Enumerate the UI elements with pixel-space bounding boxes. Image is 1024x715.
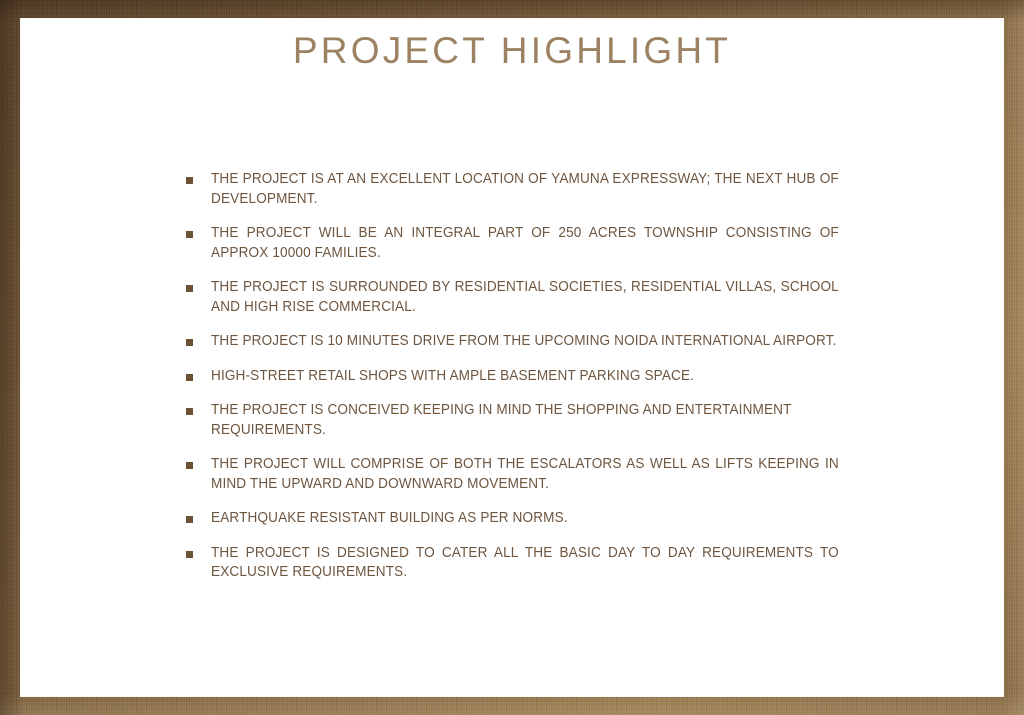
square-bullet-icon: [186, 408, 193, 415]
square-bullet-icon: [186, 231, 193, 238]
list-item-label: THE PROJECT IS CONCEIVED KEEPING IN MIND…: [211, 401, 839, 440]
highlight-list: THE PROJECT IS AT AN EXCELLENT LOCATION …: [186, 170, 839, 583]
square-bullet-icon: [186, 551, 193, 558]
list-item-label: HIGH-STREET RETAIL SHOPS WITH AMPLE BASE…: [211, 367, 839, 387]
list-item: EARTHQUAKE RESISTANT BUILDING AS PER NOR…: [186, 509, 839, 529]
list-item: THE PROJECT IS SURROUNDED BY RESIDENTIAL…: [186, 278, 839, 317]
square-bullet-icon: [186, 285, 193, 292]
list-item-label: THE PROJECT IS DESIGNED TO CATER ALL THE…: [211, 544, 839, 583]
square-bullet-icon: [186, 339, 193, 346]
list-item-label: THE PROJECT IS AT AN EXCELLENT LOCATION …: [211, 170, 839, 209]
list-item-label: THE PROJECT IS SURROUNDED BY RESIDENTIAL…: [211, 278, 839, 317]
list-item-label: THE PROJECT WILL COMPRISE OF BOTH THE ES…: [211, 455, 839, 494]
square-bullet-icon: [186, 374, 193, 381]
slide-canvas: PROJECT HIGHLIGHT THE PROJECT IS AT AN E…: [20, 18, 1004, 697]
list-item-label: THE PROJECT WILL BE AN INTEGRAL PART OF …: [211, 224, 839, 263]
list-item: THE PROJECT IS CONCEIVED KEEPING IN MIND…: [186, 401, 839, 440]
list-item: THE PROJECT WILL COMPRISE OF BOTH THE ES…: [186, 455, 839, 494]
list-item: THE PROJECT IS AT AN EXCELLENT LOCATION …: [186, 170, 839, 209]
list-item-label: EARTHQUAKE RESISTANT BUILDING AS PER NOR…: [211, 509, 839, 529]
square-bullet-icon: [186, 177, 193, 184]
list-item: HIGH-STREET RETAIL SHOPS WITH AMPLE BASE…: [186, 367, 839, 387]
list-item-label: THE PROJECT IS 10 MINUTES DRIVE FROM THE…: [211, 332, 839, 352]
list-item: THE PROJECT IS DESIGNED TO CATER ALL THE…: [186, 544, 839, 583]
square-bullet-icon: [186, 516, 193, 523]
list-item: THE PROJECT IS 10 MINUTES DRIVE FROM THE…: [186, 332, 839, 352]
list-item: THE PROJECT WILL BE AN INTEGRAL PART OF …: [186, 224, 839, 263]
square-bullet-icon: [186, 462, 193, 469]
page-title: PROJECT HIGHLIGHT: [20, 30, 1004, 72]
slide-frame: PROJECT HIGHLIGHT THE PROJECT IS AT AN E…: [0, 0, 1024, 715]
